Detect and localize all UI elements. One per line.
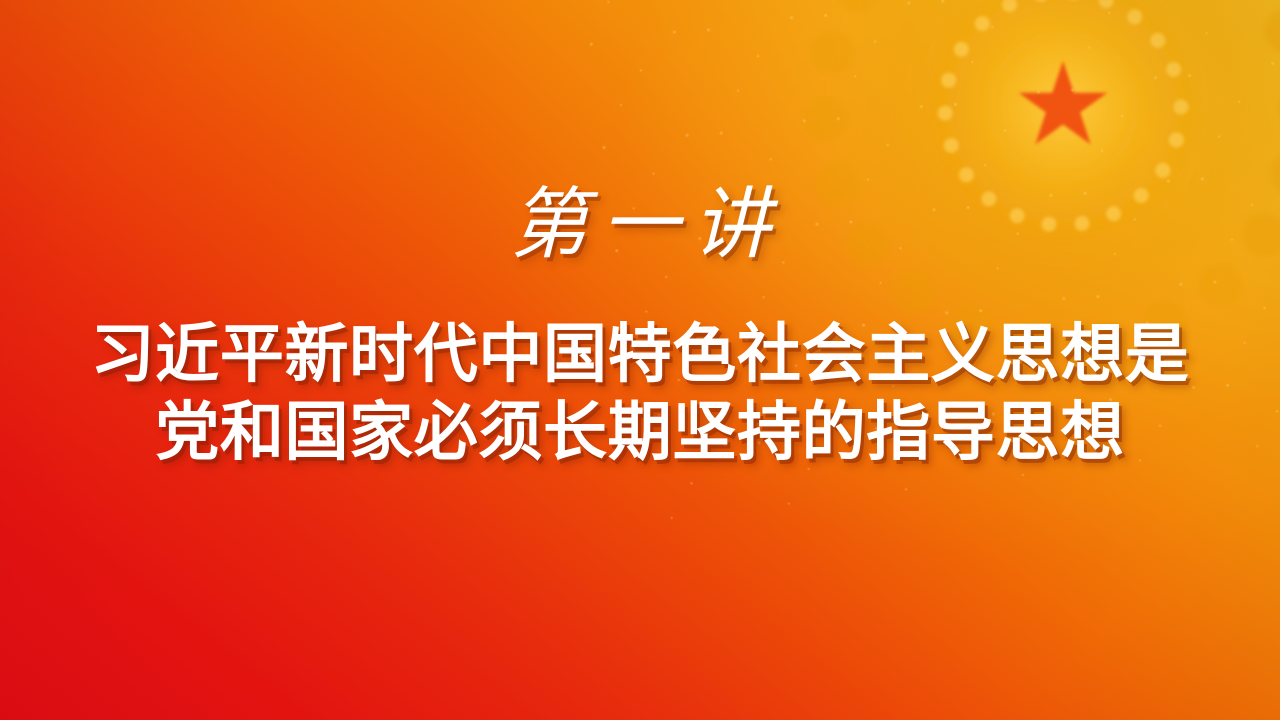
slide-title: 习近平新时代中国特色社会主义思想是 党和国家必须长期坚持的指导思想 <box>0 316 1280 472</box>
slide-content: 第一讲 习近平新时代中国特色社会主义思想是 党和国家必须长期坚持的指导思想 <box>0 0 1280 720</box>
lecture-number-heading: 第一讲 <box>0 186 1280 264</box>
slide-title-line-1: 习近平新时代中国特色社会主义思想是 <box>0 316 1280 394</box>
slide-title-line-2: 党和国家必须长期坚持的指导思想 <box>0 394 1280 472</box>
presentation-slide: 第一讲 习近平新时代中国特色社会主义思想是 党和国家必须长期坚持的指导思想 <box>0 0 1280 720</box>
